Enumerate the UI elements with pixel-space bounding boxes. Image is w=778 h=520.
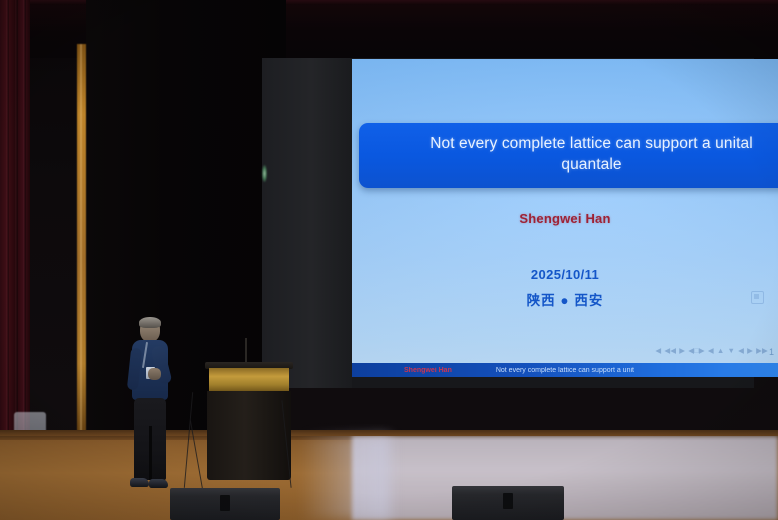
nav-symbol[interactable]: ▶▶ <box>756 346 768 355</box>
nav-symbol[interactable]: ▶ <box>679 346 685 355</box>
slide-page-number: 1 <box>769 347 774 357</box>
nav-symbol[interactable]: ◀ <box>708 346 714 355</box>
slide-footer-bar: Shengwei Han Not every complete lattice … <box>352 363 778 377</box>
presenter-hands <box>148 368 161 380</box>
footer-title: Not every complete lattice can support a… <box>496 367 634 374</box>
nav-symbol[interactable]: ◀□▶ <box>688 346 705 355</box>
podium <box>205 362 293 480</box>
stage-monitor-right <box>452 486 564 520</box>
presentation-photo-scene: Not every complete lattice can support a… <box>0 0 778 520</box>
green-indicator-light-icon <box>262 165 267 182</box>
presenter-leg-gap <box>149 426 152 480</box>
monitor-grille <box>220 495 230 511</box>
slide-author: Shengwei Han <box>352 211 778 226</box>
presenter-left-shoe <box>130 478 149 487</box>
podium-brass-band <box>209 368 289 392</box>
nav-symbol[interactable]: ◀◀ <box>664 346 676 355</box>
slide-title-banner: Not every complete lattice can support a… <box>359 123 778 188</box>
nav-symbol[interactable]: ▶ <box>747 346 753 355</box>
slide-title: Not every complete lattice can support a… <box>399 134 778 175</box>
slide-date: 2025/10/11 <box>352 267 778 282</box>
floor-light-spill-edge <box>300 436 390 520</box>
nav-symbol[interactable]: ◀ <box>738 346 744 355</box>
slide-watermark-icon <box>751 291 764 304</box>
slide-place: 陕西 ● 西安 <box>352 289 778 309</box>
podium-microphone-icon <box>245 338 247 364</box>
presenter-hair <box>139 317 161 328</box>
stage-floor-edge <box>0 430 778 436</box>
presenter-right-shoe <box>149 479 168 488</box>
footer-author: Shengwei Han <box>404 367 452 374</box>
presenter <box>124 318 176 494</box>
nav-symbol[interactable]: ◀ <box>655 346 661 355</box>
screen-bezel-left <box>262 58 352 388</box>
monitor-grille <box>503 493 513 509</box>
podium-body <box>207 391 291 480</box>
nav-symbol[interactable]: ▲ <box>717 346 725 355</box>
floor-light-spill <box>352 436 778 520</box>
projected-slide: Not every complete lattice can support a… <box>352 59 778 377</box>
amber-light-strip <box>77 44 86 434</box>
stage-monitor-left <box>170 488 280 520</box>
nav-symbol[interactable]: ▼ <box>728 346 736 355</box>
beamer-navigation-symbols[interactable]: ◀ ◀◀ ▶ ◀□▶ ◀ ▲ ▼ ◀ ▶ ▶▶ <box>655 346 768 355</box>
